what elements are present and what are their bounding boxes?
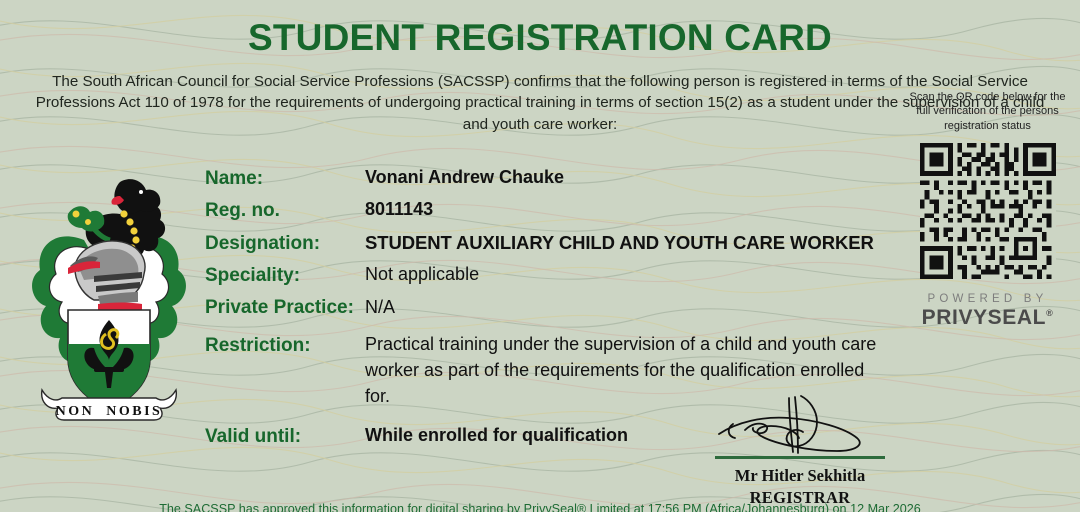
- qr-verification-panel: Scan the QR code below for the full veri…: [905, 90, 1070, 330]
- student-registration-card: STUDENT REGISTRATION CARD The South Afri…: [0, 0, 1080, 512]
- speciality-value: Not applicable: [365, 261, 905, 289]
- private-practice-value: N/A: [365, 294, 905, 322]
- valid-until-label: Valid until:: [205, 422, 365, 451]
- approval-footer: The SACSSP has approved this information…: [0, 502, 1080, 512]
- qr-caption: Scan the QR code below for the full veri…: [905, 90, 1070, 133]
- reg-no-value: 8011143: [365, 196, 905, 224]
- privyseal-wordmark: PRIVYSEAL®: [905, 306, 1070, 330]
- signature-block: Mr Hitler Sekhitla REGISTRAR: [700, 394, 900, 510]
- restriction-label: Restriction:: [205, 331, 365, 360]
- field-row-name: Name: Vonani Andrew Chauke: [205, 164, 905, 193]
- field-row-private-practice: Private Practice: N/A: [205, 294, 905, 323]
- qr-code-icon[interactable]: [920, 143, 1056, 279]
- registrar-name: Mr Hitler Sekhitla: [700, 465, 900, 487]
- signature-line: [715, 456, 885, 459]
- private-practice-label: Private Practice:: [205, 294, 365, 323]
- name-label: Name:: [205, 164, 365, 193]
- crest-motto: NON NOBIS: [56, 404, 163, 419]
- designation-value: STUDENT AUXILIARY CHILD AND YOUTH CARE W…: [365, 229, 905, 258]
- coat-of-arms-icon: NON NOBIS: [24, 162, 194, 427]
- field-row-speciality: Speciality: Not applicable: [205, 261, 905, 290]
- designation-label: Designation:: [205, 229, 365, 258]
- powered-by-label: POWERED BY: [905, 293, 1070, 306]
- registered-mark: ®: [1046, 308, 1053, 318]
- privyseal-brand: POWERED BY PRIVYSEAL®: [905, 293, 1070, 330]
- reg-no-label: Reg. no.: [205, 196, 365, 225]
- handwritten-signature-icon: [700, 394, 900, 456]
- intro-paragraph: The South African Council for Social Ser…: [35, 71, 1045, 136]
- privyseal-name: PRIVYSEAL: [922, 306, 1046, 329]
- name-value: Vonani Andrew Chauke: [365, 164, 905, 192]
- speciality-label: Speciality:: [205, 261, 365, 290]
- page-title: STUDENT REGISTRATION CARD: [0, 18, 1080, 59]
- field-row-designation: Designation: STUDENT AUXILIARY CHILD AND…: [205, 229, 905, 258]
- field-row-reg-no: Reg. no. 8011143: [205, 196, 905, 225]
